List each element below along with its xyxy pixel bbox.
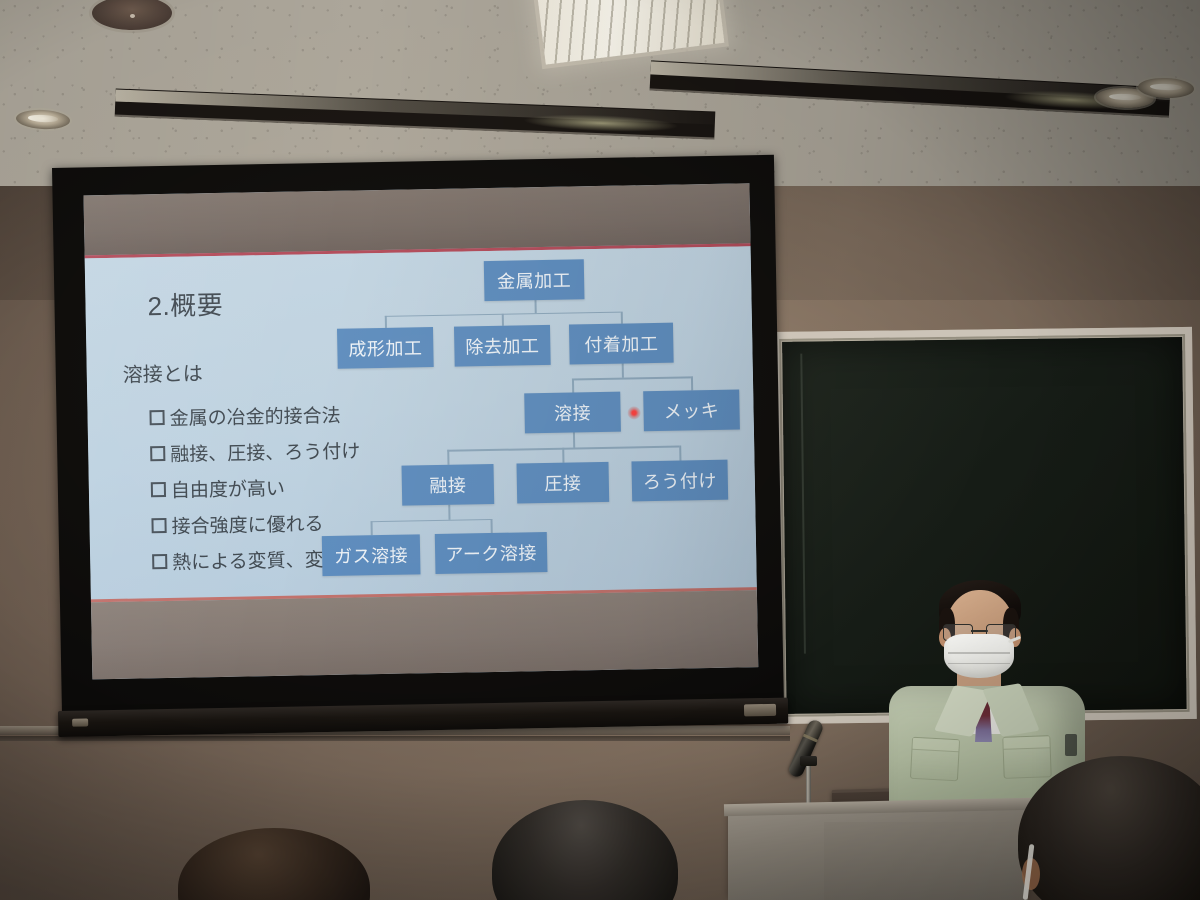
tree-node: ろう付け	[631, 460, 728, 502]
tree-node: 成形加工	[337, 327, 434, 369]
lecture-room-photo: 2.概要 溶接とは 金属の冶金的接合法 融接、圧接、ろう付け 自由度が高い 接	[0, 0, 1200, 900]
tree-connector	[447, 450, 449, 465]
jacket-pocket-left	[910, 737, 960, 781]
tree-node: 金属加工	[484, 259, 585, 301]
presentation-slide: 2.概要 溶接とは 金属の冶金的接合法 融接、圧接、ろう付け 自由度が高い 接	[84, 183, 759, 679]
tree-connector	[572, 378, 574, 392]
tree-connector	[679, 446, 681, 461]
tree-node: 付着加工	[569, 323, 674, 365]
podium-front-panel	[824, 822, 1020, 900]
roller-end-cap-right	[744, 704, 776, 717]
tree-node: 溶接	[524, 392, 621, 434]
blackboard-seam	[800, 354, 806, 654]
tree-connector	[562, 448, 564, 463]
mask-fold	[948, 652, 1010, 653]
tree-connector	[385, 315, 387, 328]
microphone-mount	[800, 756, 817, 766]
tree-node: ガス溶接	[322, 534, 421, 576]
podium	[728, 808, 1028, 900]
tree-connector	[691, 376, 693, 390]
tree-node: アーク溶接	[435, 532, 548, 574]
tree-connector	[371, 521, 373, 536]
tree-connector	[490, 518, 492, 533]
roller-end-cap-left	[72, 718, 88, 726]
tree-connector	[572, 376, 691, 380]
tree-connector	[535, 300, 537, 313]
tree-connector	[622, 364, 624, 378]
projection-screen: 2.概要 溶接とは 金属の冶金的接合法 融接、圧接、ろう付け 自由度が高い 接	[52, 155, 784, 733]
pocket-flap	[1003, 736, 1049, 750]
laser-pointer-dot	[627, 406, 640, 419]
tree-connector	[502, 313, 504, 326]
pocket-flap	[912, 738, 959, 752]
tree-node: 圧接	[516, 462, 609, 504]
tree-connector	[448, 505, 450, 520]
tree-connector	[573, 432, 575, 447]
tree-node: 除去加工	[454, 325, 551, 367]
tree-node: メッキ	[643, 389, 740, 431]
face-mask-icon	[944, 634, 1014, 678]
jacket-pocket-right	[1002, 735, 1051, 779]
tree-node: 融接	[402, 464, 495, 506]
mask-fold	[948, 663, 1010, 664]
metal-processing-tree-diagram: 金属加工成形加工除去加工付着加工溶接メッキ融接圧接ろう付けガス溶接アーク溶接	[84, 183, 759, 679]
tree-connector	[621, 311, 623, 324]
tree-connector	[371, 519, 491, 523]
sleeve-badge	[1065, 734, 1077, 756]
